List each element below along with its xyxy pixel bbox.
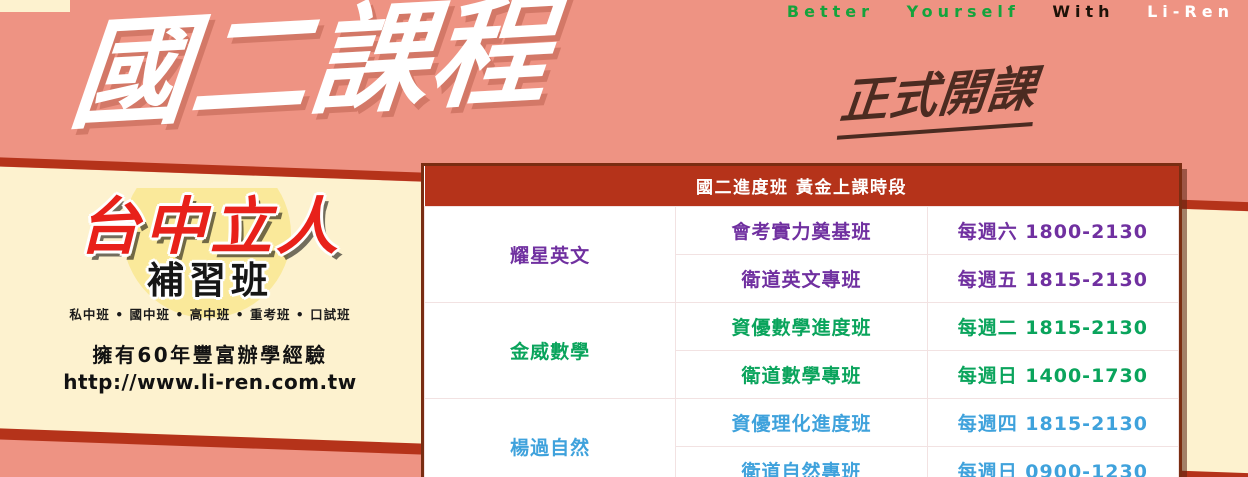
logo-experience: 擁有60年豐富辦學經驗 <box>40 339 380 368</box>
logo-brand-type: 補習班 <box>40 262 380 299</box>
time-cell: 每週六 1800-2130 <box>927 207 1178 255</box>
logo-website-url[interactable]: http://www.li-ren.com.tw <box>40 370 380 394</box>
course-cell: 衛道自然專班 <box>676 447 927 477</box>
school-logo: 台中立人 補習班 私中班 • 國中班 • 高中班 • 重考班 • 口試班 擁有6… <box>40 196 380 394</box>
table-header-title: 國二進度班 黃金上課時段 <box>425 166 1179 207</box>
schedule-table: 國二進度班 黃金上課時段 耀星英文 會考實力奠基班 每週六 1800-2130 … <box>424 166 1179 477</box>
logo-brand-name: 台中立人 <box>40 196 380 258</box>
course-cell: 衛道數學專班 <box>676 351 927 399</box>
headline-subtitle: 正式開課 <box>837 48 1041 139</box>
subject-cell: 金威數學 <box>425 303 676 399</box>
tagline: Better Yourself With Li-Ren <box>787 2 1234 21</box>
course-cell: 資優理化進度班 <box>676 399 927 447</box>
table-header-row: 國二進度班 黃金上課時段 <box>425 166 1179 207</box>
table-row: 金威數學 資優數學進度班 每週二 1815-2130 <box>425 303 1179 351</box>
time-cell: 每週五 1815-2130 <box>927 255 1178 303</box>
course-cell: 會考實力奠基班 <box>676 207 927 255</box>
tagline-word-1: Better <box>787 2 874 21</box>
tagline-word-3: With <box>1052 2 1114 21</box>
promo-banner: Better Yourself With Li-Ren 國二課程 正式開課 台中… <box>0 0 1248 477</box>
course-cell: 衛道英文專班 <box>676 255 927 303</box>
time-cell: 每週日 0900-1230 <box>927 447 1178 477</box>
tagline-word-2: Yourself <box>907 2 1020 21</box>
headline-title: 國二課程 <box>65 0 557 139</box>
tagline-word-4: Li-Ren <box>1147 2 1234 21</box>
logo-class-types: 私中班 • 國中班 • 高中班 • 重考班 • 口試班 <box>40 304 380 323</box>
background-corner-sliver <box>0 0 70 12</box>
schedule-table-container: 國二進度班 黃金上課時段 耀星英文 會考實力奠基班 每週六 1800-2130 … <box>421 163 1182 477</box>
time-cell: 每週日 1400-1730 <box>927 351 1178 399</box>
time-cell: 每週二 1815-2130 <box>927 303 1178 351</box>
schedule-table-body: 耀星英文 會考實力奠基班 每週六 1800-2130 衛道英文專班 每週五 18… <box>425 207 1179 477</box>
table-row: 楊過自然 資優理化進度班 每週四 1815-2130 <box>425 399 1179 447</box>
course-cell: 資優數學進度班 <box>676 303 927 351</box>
subject-cell: 耀星英文 <box>425 207 676 303</box>
time-cell: 每週四 1815-2130 <box>927 399 1178 447</box>
subject-cell: 楊過自然 <box>425 399 676 477</box>
table-row: 耀星英文 會考實力奠基班 每週六 1800-2130 <box>425 207 1179 255</box>
